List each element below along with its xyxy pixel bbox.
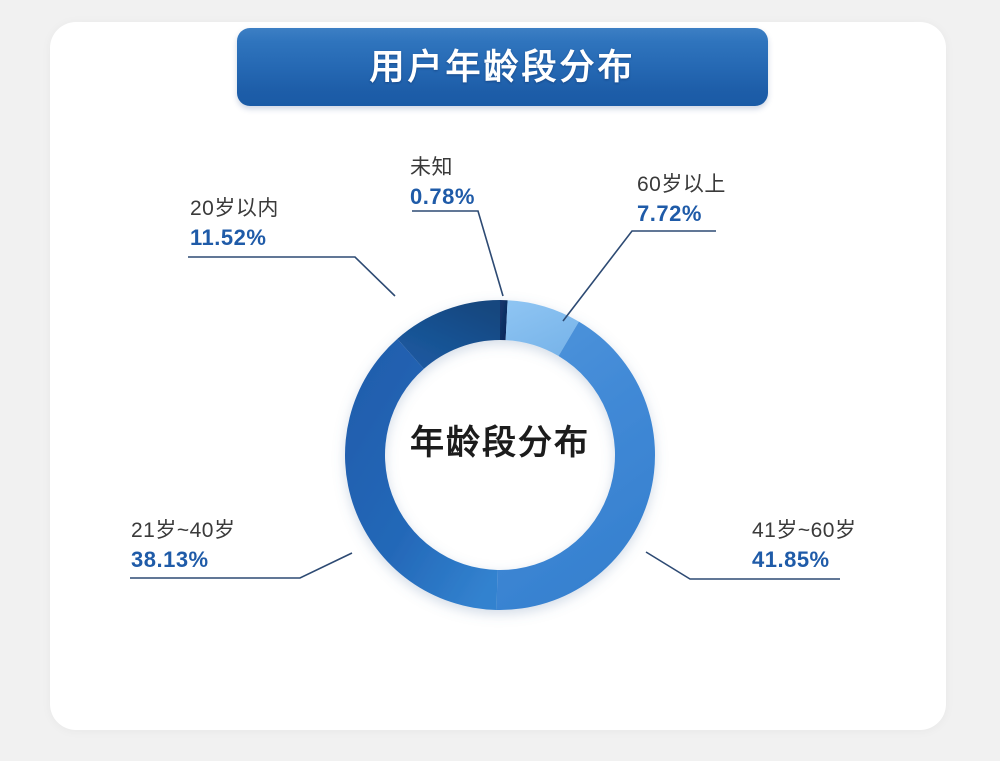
leader-line-over-60 bbox=[563, 231, 716, 321]
callout-unknown-category: 未知 bbox=[410, 155, 475, 181]
leader-line-under-20 bbox=[188, 257, 395, 296]
slice-21-to-40[interactable] bbox=[345, 339, 497, 610]
chart-page: 用户年龄段分布 bbox=[0, 0, 1000, 761]
donut-center-label: 年龄段分布 bbox=[370, 425, 630, 462]
callout-21-to-40-percent: 38.13% bbox=[131, 547, 235, 574]
callout-under-20-category: 20岁以内 bbox=[190, 196, 279, 222]
leader-line-unknown bbox=[412, 211, 503, 296]
callout-unknown-percent: 0.78% bbox=[410, 184, 475, 211]
callout-unknown: 未知 0.78% bbox=[410, 155, 475, 210]
slice-41-to-60[interactable] bbox=[497, 322, 655, 610]
callout-over-60-percent: 7.72% bbox=[637, 201, 726, 228]
donut-chart-svg bbox=[0, 0, 1000, 761]
callout-41-to-60: 41岁~60岁 41.85% bbox=[752, 518, 856, 573]
leader-lines bbox=[130, 211, 840, 579]
callout-under-20: 20岁以内 11.52% bbox=[190, 196, 279, 251]
callout-over-60: 60岁以上 7.72% bbox=[637, 172, 726, 227]
callout-21-to-40: 21岁~40岁 38.13% bbox=[131, 518, 235, 573]
donut-chart: 年龄段分布 未知 0.78% 20岁以内 11.52% 60岁以上 7.72% … bbox=[0, 0, 1000, 761]
callout-over-60-category: 60岁以上 bbox=[637, 172, 726, 198]
callout-under-20-percent: 11.52% bbox=[190, 225, 279, 252]
callout-21-to-40-category: 21岁~40岁 bbox=[131, 518, 235, 544]
callout-41-to-60-category: 41岁~60岁 bbox=[752, 518, 856, 544]
callout-41-to-60-percent: 41.85% bbox=[752, 547, 856, 574]
